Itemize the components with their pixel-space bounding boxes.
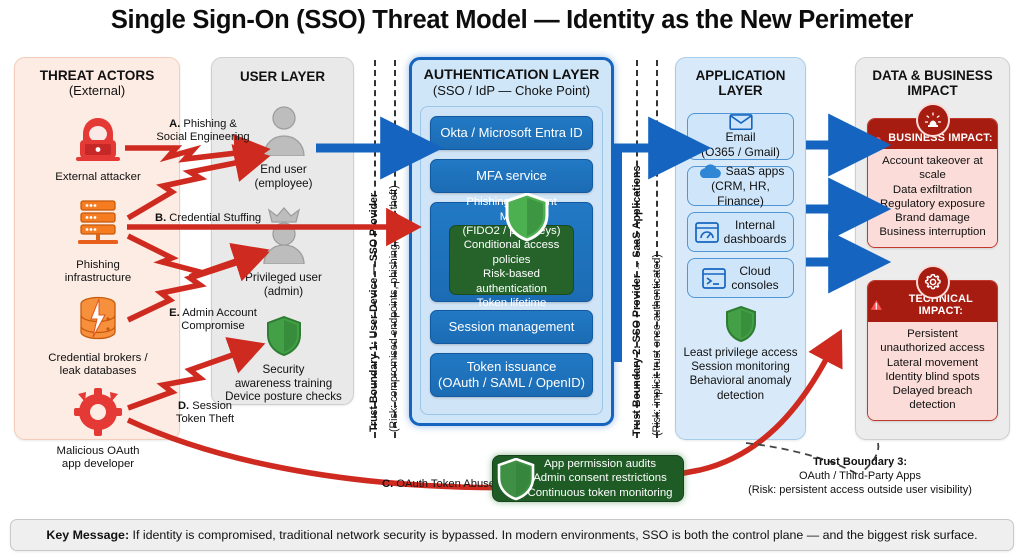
attack-label-C-prefix: C. — [382, 478, 393, 490]
trust-boundary-2-label: Trust Boundary 2: SSO Provider → SaaS Ap… — [631, 166, 643, 436]
impact-card-business: BUSINESS IMPACT: Account takeover at sca… — [867, 118, 998, 248]
panel-authentication-layer: AUTHENTICATION LAYER (SSO / IdP — Choke … — [409, 57, 614, 426]
app-box-cloud-consoles[interactable]: Cloud consoles — [687, 258, 794, 298]
attack-label-E-prefix: E. — [169, 307, 180, 319]
panel-user-layer-title: USER LAYER — [212, 69, 353, 84]
app-dash-row: Internal dashboards — [695, 218, 787, 247]
gear-glyph — [923, 272, 943, 292]
panel-user-layer: USER LAYER End user (employee) Privilege… — [211, 57, 354, 405]
malicious-gear-icon — [72, 388, 124, 438]
impact-card-technical-items: Persistent unauthorized access Lateral m… — [868, 322, 997, 420]
user-icon — [258, 104, 310, 156]
trust-boundary-3-title: Trust Boundary 3: — [813, 456, 907, 468]
app-box-label-line1: SaaS apps — [726, 164, 785, 178]
threat-actor-label: External attacker — [15, 171, 181, 184]
auth-box-mfa-service[interactable]: MFA service — [430, 159, 593, 193]
attack-label-E-text: Admin Account Compromise — [180, 307, 257, 332]
app-layer-controls-text: Least privilege access Session monitorin… — [682, 346, 799, 403]
attack-label-C: C. OAuth Token Abuse — [365, 478, 495, 490]
attack-label-A-prefix: A. — [169, 118, 180, 130]
trust-boundary-1-risk: (Risk: compromised endpoints, phishing, … — [388, 185, 400, 432]
app-box-label: Cloud consoles — [731, 264, 778, 293]
attack-label-D-prefix: D. — [178, 400, 189, 412]
panel-threat-actors-title-text: THREAT ACTORS — [40, 68, 155, 83]
cloud-icon — [697, 164, 721, 179]
database-breach-icon — [75, 295, 121, 345]
trust-boundary-3-line2: OAuth / Third-Party Apps — [799, 470, 921, 482]
panel-authentication-layer-title: AUTHENTICATION LAYER (SSO / IdP — Choke … — [412, 68, 611, 100]
app-box-email[interactable]: Email (O365 / Gmail) — [687, 113, 794, 160]
panel-data-impact-title: DATA & BUSINESS IMPACT — [856, 68, 1009, 98]
app-saas-row: SaaS apps — [697, 164, 785, 179]
trust-boundary-2-title: Trust Boundary 2: SSO Provider → SaaS Ap… — [631, 166, 643, 436]
key-message-bar: Key Message: If identity is compromised,… — [10, 519, 1014, 551]
trust-boundary-2-risk-label: (Risk: implicit trust once authenticated… — [651, 254, 663, 436]
app-box-dashboards[interactable]: Internal dashboards — [687, 212, 794, 252]
shield-icon — [505, 193, 549, 243]
app-box-saas[interactable]: SaaS apps (CRM, HR, Finance) — [687, 166, 794, 206]
app-box-label: Email (O365 / Gmail) — [701, 130, 780, 159]
diagram-canvas: Single Sign-On (SSO) Threat Model — Iden… — [0, 0, 1024, 559]
shield-icon — [266, 316, 302, 356]
envelope-icon — [728, 114, 754, 130]
shield-icon — [725, 306, 757, 342]
hacker-icon — [72, 116, 124, 164]
alarm-light-icon — [916, 103, 950, 137]
attack-label-C-text: OAuth Token Abuse — [393, 478, 495, 490]
impact-card-technical: TECHNICAL IMPACT: Persistent unauthorize… — [867, 280, 998, 421]
oauth-mitigation-text: App permission audits Admin consent rest… — [525, 457, 675, 500]
panel-threat-actors-title: THREAT ACTORS (External) — [15, 68, 179, 99]
auth-box-session-management[interactable]: Session management — [430, 310, 593, 344]
panel-data-business-impact: DATA & BUSINESS IMPACT BUSINESS IMPACT: … — [855, 57, 1010, 440]
auth-box-token-issuance[interactable]: Token issuance (OAuth / SAML / OpenID) — [430, 353, 593, 397]
shield-icon — [497, 458, 535, 501]
user-layer-end-user[interactable]: End user (employee) — [212, 104, 355, 190]
panel-application-layer-title: APPLICATION LAYER — [676, 68, 805, 98]
user-layer-label: Security awareness training Device postu… — [212, 363, 355, 404]
trust-boundary-3-risk: (Risk: persistent access outside user vi… — [748, 484, 972, 496]
trust-boundary-1-risk-label: (Risk: compromised endpoints, phishing, … — [388, 185, 400, 432]
auth-inner-container: Okta / Microsoft Entra ID MFA service Ph… — [420, 106, 603, 415]
gear-icon — [916, 265, 950, 299]
page-title: Single Sign-On (SSO) Threat Model — Iden… — [0, 6, 1024, 35]
alarm-light-icon — [872, 131, 884, 144]
user-layer-label: Privileged user (admin) — [212, 271, 355, 298]
app-box-label-line2: (CRM, HR, Finance) — [688, 179, 793, 208]
attack-label-D: D. Session Token Theft — [155, 400, 255, 426]
user-layer-label: End user (employee) — [212, 163, 355, 190]
trust-boundary-2-risk: (Risk: implicit trust once authenticated… — [651, 254, 663, 436]
app-layer-controls: Least privilege access Session monitorin… — [682, 306, 799, 403]
app-box-label: Internal dashboards — [724, 218, 787, 247]
key-message-text: If identity is compromised, traditional … — [129, 528, 977, 542]
attack-label-A: A. Phishing & Social Engineering — [148, 118, 258, 144]
attack-label-E: E. Admin Account Compromise — [158, 307, 268, 333]
attack-label-B-text: Credential Stuffing — [166, 212, 261, 224]
threat-actor-credential-brokers[interactable]: Credential brokers / leak databases — [15, 295, 181, 379]
trust-boundary-1-title: Trust Boundary 1: User Device — SSO Prov… — [368, 193, 380, 432]
dashboard-icon — [695, 222, 719, 243]
warning-triangle-icon — [870, 299, 883, 311]
trust-boundary-1-label: Trust Boundary 1: User Device — SSO Prov… — [368, 193, 380, 432]
auth-box-idp[interactable]: Okta / Microsoft Entra ID — [430, 116, 593, 150]
threat-actor-label: Phishing infrastructure — [15, 259, 181, 286]
threat-actor-label: Malicious OAuth app developer — [15, 445, 181, 472]
panel-threat-actors: THREAT ACTORS (External) External attack… — [14, 57, 180, 440]
key-message-label: Key Message: — [46, 528, 129, 542]
threat-actor-label: Credential brokers / leak databases — [15, 352, 181, 379]
attack-label-B-prefix: B. — [155, 212, 166, 224]
attack-label-B: B. Credential Stuffing — [155, 212, 290, 225]
panel-application-layer: APPLICATION LAYER Email (O365 / Gmail) S… — [675, 57, 806, 440]
alarm-light-glyph — [923, 110, 943, 130]
server-stack-icon — [71, 198, 125, 252]
oauth-mitigation-card: App permission audits Admin consent rest… — [492, 455, 684, 502]
panel-auth-title-text: AUTHENTICATION LAYER — [424, 67, 600, 83]
trust-boundary-3-label: Trust Boundary 3: OAuth / Third-Party Ap… — [710, 455, 1010, 497]
app-cloud-row: Cloud consoles — [702, 264, 778, 293]
terminal-icon — [702, 268, 726, 289]
panel-threat-actors-subtitle: (External) — [69, 83, 125, 98]
panel-auth-subtitle: (SSO / IdP — Choke Point) — [433, 83, 590, 98]
impact-card-business-items: Account takeover at scale Data exfiltrat… — [868, 149, 997, 247]
